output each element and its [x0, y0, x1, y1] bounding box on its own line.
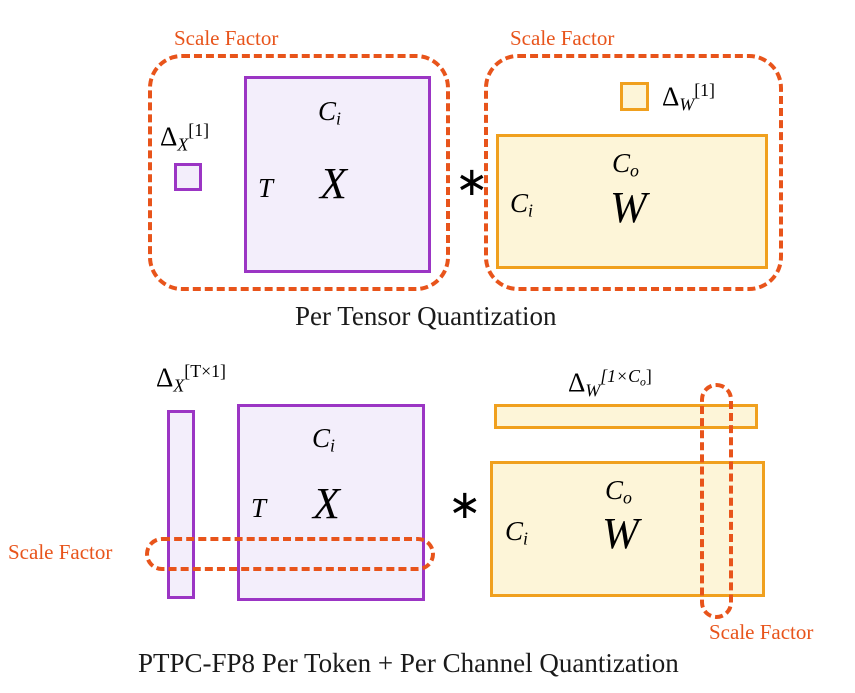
row2-delta-x-label: ΔX[T×1]: [156, 363, 226, 395]
row1-delta-w-label: ΔW[1]: [662, 82, 715, 114]
row2-delta-w-subscript: W: [585, 380, 600, 400]
row2-x-top-dim-sub: i: [330, 436, 335, 456]
row1-scale-factor-label-right: Scale Factor: [510, 28, 614, 49]
row2-x-top-dim: Ci: [312, 425, 335, 455]
row2-w-top-dim-letter: C: [605, 475, 623, 505]
row1-delta-x-superscript: [1]: [188, 120, 209, 140]
row2-delta-w-symbol: Δ: [568, 367, 585, 397]
row1-x-left-dim: T: [258, 175, 273, 202]
row1-delta-x-subscript: X: [177, 134, 188, 154]
row2-w-left-dim-letter: C: [505, 516, 523, 546]
row1-scale-factor-label-left: Scale Factor: [174, 28, 278, 49]
row1-w-left-dim: Ci: [510, 190, 533, 220]
row2-delta-w-superscript: [1×C: [600, 366, 640, 386]
row2-x-matrix-name: X: [313, 482, 340, 526]
row1-caption: Per Tensor Quantization: [295, 303, 557, 330]
row2-w-left-dim: Ci: [505, 518, 528, 548]
row1-w-top-dim-sub: o: [630, 161, 639, 181]
row2-w-top-dim: Co: [605, 477, 632, 507]
row1-delta-w-symbol: Δ: [662, 81, 679, 111]
row2-delta-x-symbol: Δ: [156, 362, 173, 392]
row2-scale-factor-label-left: Scale Factor: [8, 542, 112, 563]
row1-x-top-dim-sub: i: [336, 109, 341, 129]
row1-x-top-dim: Ci: [318, 98, 341, 128]
row1-w-left-dim-sub: i: [528, 201, 533, 221]
row2-w-top-dim-sub: o: [623, 488, 632, 508]
row2-token-scale-highlight: [145, 537, 435, 571]
row2-w-matrix-name: W: [602, 512, 639, 556]
row2-scale-factor-label-right: Scale Factor: [709, 622, 813, 643]
row1-x-top-dim-letter: C: [318, 96, 336, 126]
row2-x-left-dim: T: [251, 495, 266, 522]
row1-delta-x-symbol: Δ: [160, 121, 177, 151]
row2-multiply-operator: ∗: [448, 485, 482, 525]
quantization-diagram: { "figure": { "title_row1": "Per Tensor …: [0, 0, 855, 693]
row1-x-matrix-name: X: [320, 162, 347, 206]
row1-w-top-dim-letter: C: [612, 148, 630, 178]
row1-delta-x-label: ΔX[1]: [160, 122, 209, 154]
row2-delta-w-superscript-end: ]: [646, 366, 652, 386]
row1-w-top-dim: Co: [612, 150, 639, 180]
row2-delta-x-subscript: X: [173, 375, 184, 395]
row2-x-top-dim-letter: C: [312, 423, 330, 453]
row2-delta-x-superscript: [T×1]: [184, 361, 226, 381]
row2-caption: PTPC-FP8 Per Token + Per Channel Quantiz…: [138, 650, 679, 677]
row1-delta-x-swatch: [174, 163, 202, 191]
row2-channel-scale-highlight: [700, 383, 733, 619]
row1-w-left-dim-letter: C: [510, 188, 528, 218]
row2-w-left-dim-sub: i: [523, 529, 528, 549]
row1-delta-w-swatch: [620, 82, 649, 111]
row1-multiply-operator: ∗: [455, 162, 489, 202]
row1-delta-w-subscript: W: [679, 94, 694, 114]
row1-delta-w-superscript: [1]: [694, 80, 715, 100]
row1-w-matrix-name: W: [610, 186, 647, 230]
row2-delta-w-label: ΔW[1×Co]: [568, 368, 652, 400]
